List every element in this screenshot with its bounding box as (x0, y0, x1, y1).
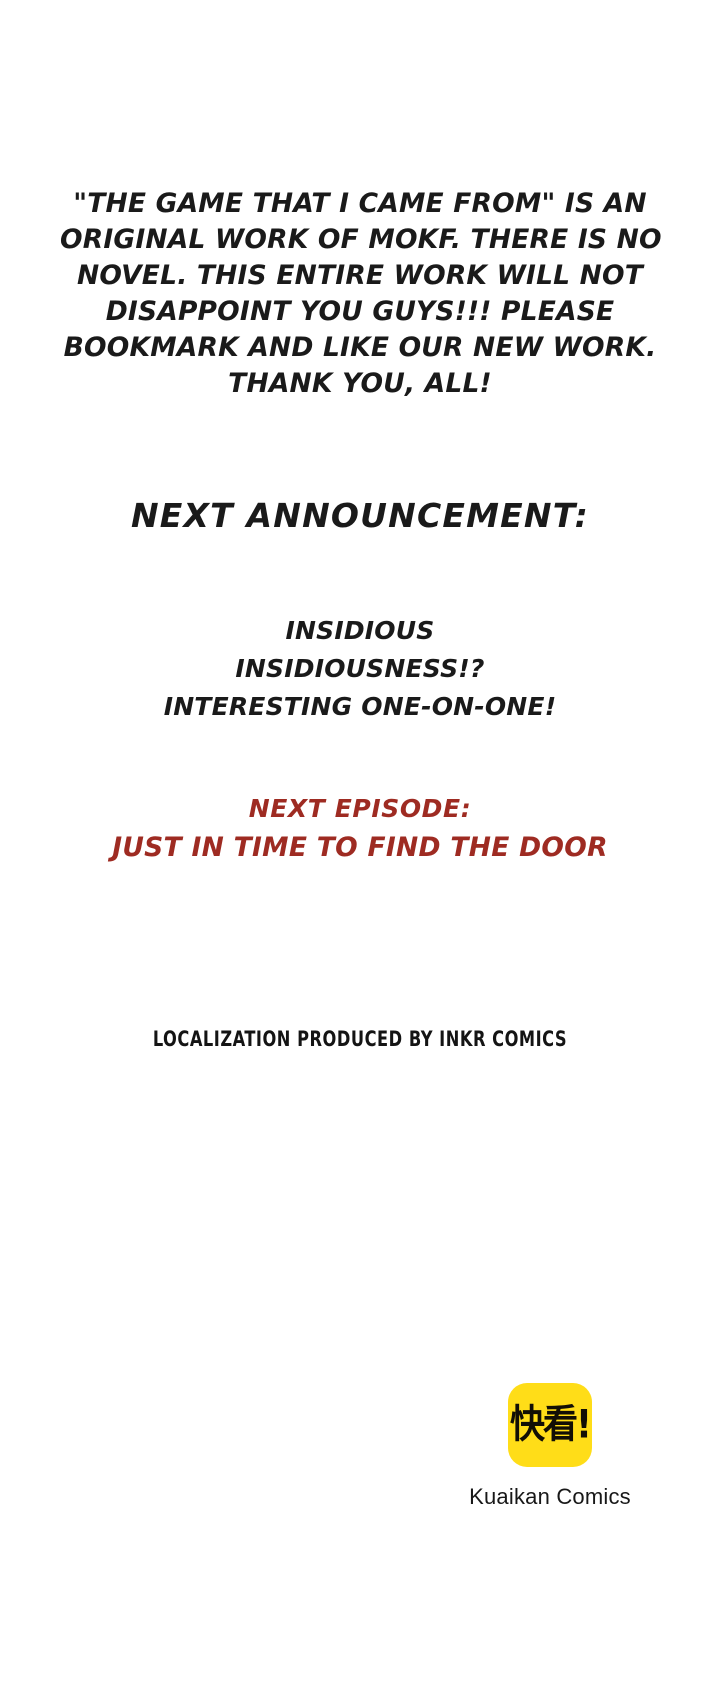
intro-note-line: "THE GAME THAT I CAME FROM" IS AN (60, 186, 660, 222)
intro-note-line: DISAPPOINT YOU GUYS!!! PLEASE (60, 294, 660, 330)
next-episode-title: JUST IN TIME TO FIND THE DOOR (50, 828, 670, 868)
intro-note-line: ORIGINAL WORK OF MOKF. THERE IS NO (60, 222, 660, 258)
publisher-name: Kuaikan Comics (420, 1484, 680, 1510)
teaser-line: INSIDIOUS (60, 612, 660, 650)
teaser-line: INSIDIOUSNESS!? (60, 650, 660, 688)
localization-credit: LOCALIZATION PRODUCED BY INKR COMICS (102, 1027, 618, 1051)
intro-note-line: THANK YOU, ALL! (60, 366, 660, 402)
next-episode-label: NEXT EPISODE: (50, 790, 670, 828)
kuaikan-logo-icon: 快看! (508, 1383, 592, 1467)
next-episode-block: NEXT EPISODE: JUST IN TIME TO FIND THE D… (50, 790, 670, 868)
publisher-block: 快看! Kuaikan Comics (420, 1383, 680, 1510)
teaser-line: INTERESTING ONE-ON-ONE! (60, 688, 660, 726)
comic-announcement-page: "THE GAME THAT I CAME FROM" IS AN ORIGIN… (0, 0, 720, 1699)
intro-note-line: NOVEL. THIS ENTIRE WORK WILL NOT (60, 258, 660, 294)
kuaikan-logo-glyphs: 快看! (510, 1405, 590, 1444)
intro-note-block: "THE GAME THAT I CAME FROM" IS AN ORIGIN… (60, 186, 660, 402)
intro-note-line: BOOKMARK AND LIKE OUR NEW WORK. (60, 330, 660, 366)
next-announcement-heading: NEXT ANNOUNCEMENT: (60, 496, 660, 536)
announcement-teaser-block: INSIDIOUS INSIDIOUSNESS!? INTERESTING ON… (60, 612, 660, 726)
